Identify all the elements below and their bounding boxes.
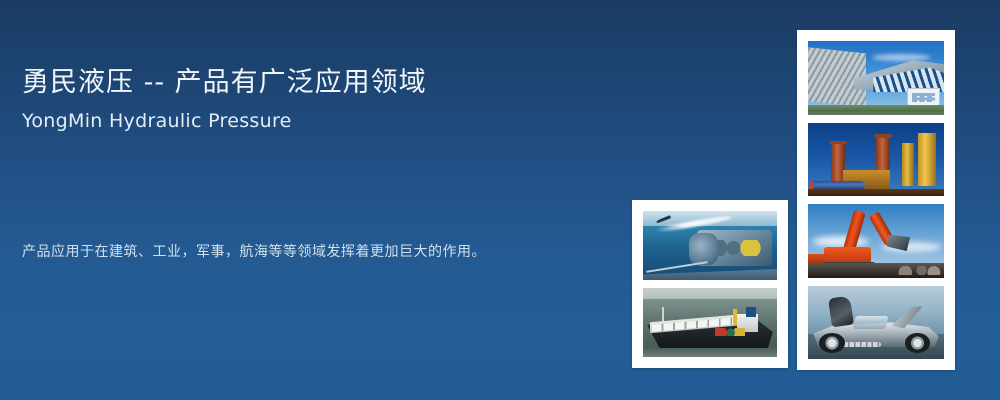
banner-text-block: 勇民液压 -- 产品有广泛应用领域 YongMin Hydraulic Pres… [22,66,582,133]
car-front-wheel [819,333,845,353]
architecture-left-facade [808,47,865,108]
car-windshield [853,316,889,329]
page-title: 勇民液压 -- 产品有广泛应用领域 [22,66,582,100]
architecture-ground [808,105,944,115]
excavator-rubble-pile [808,263,944,278]
photo-cargo-ship [643,288,777,357]
architecture-cloud [873,54,930,61]
hero-banner: 勇民液压 -- 产品有广泛应用领域 YongMin Hydraulic Pres… [0,0,1000,400]
ship-deck-equipment [715,328,744,336]
photo-concept-sports-car [808,286,944,360]
banner-description: 产品应用于在建筑、工业，军事，航海等等领域发挥着更加巨大的作用。 [22,236,492,269]
excavator-cloud-left [813,236,867,246]
industry-ground [808,189,944,196]
photo-modern-architecture [808,41,944,115]
photo-frame-left [632,200,788,368]
photo-petrochemical-plant [808,123,944,197]
industry-tower-secondary [902,143,914,186]
industry-tower-main [918,133,936,186]
navy-turret [689,233,718,265]
photo-frame-right [797,30,955,370]
photo-naval-missile-launch [643,211,777,280]
page-subtitle: YongMin Hydraulic Pressure [22,109,582,133]
photo-excavator-mining [808,204,944,278]
ship-wake [643,347,777,357]
ship-funnel [746,307,755,317]
car-scissor-door [828,296,854,328]
ship-mast [662,307,665,321]
